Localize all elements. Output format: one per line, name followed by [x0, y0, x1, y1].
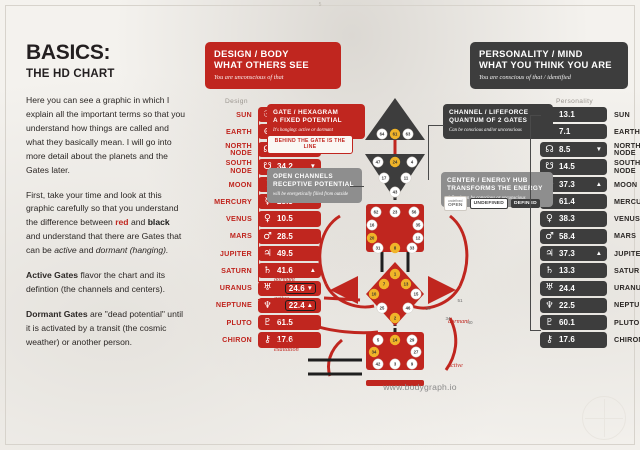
svg-text:40: 40: [467, 320, 473, 325]
annotation-exaltation: line is in exaltation: [274, 338, 299, 354]
page-number: 5: [319, 2, 322, 8]
planet-row[interactable]: ♄13.3SATURN: [540, 263, 640, 278]
svg-text:12: 12: [416, 236, 421, 241]
planet-pill[interactable]: ⚷17.6: [540, 332, 607, 347]
planet-value: 37.3: [559, 180, 575, 189]
saturn-icon: ♄: [262, 266, 273, 276]
website-url: www.bodygraph.io: [360, 382, 480, 392]
pluto-icon: ♇: [262, 318, 273, 328]
p2-part-b: and: [129, 217, 148, 227]
mars-icon: ♂: [262, 232, 273, 242]
planet-label-mercury: MERCURY: [208, 198, 258, 206]
planet-label-neptune: NEPTUNE: [208, 301, 258, 309]
p2-red-word: red: [115, 217, 128, 227]
svg-text:35: 35: [416, 223, 421, 228]
personality-banner-sub: You are conscious of that / identified: [479, 74, 619, 82]
planet-value: 7.1: [559, 127, 570, 136]
intro-column: BASICS: THE HD CHART Here you can see a …: [26, 42, 186, 361]
detriment-arrow-icon: ▼: [596, 146, 602, 153]
planet-row[interactable]: ⚷17.6CHIRON: [540, 332, 640, 347]
planet-pill[interactable]: ☊8.5▼: [540, 142, 607, 157]
planet-value: 41.6: [277, 266, 293, 275]
jupiter-icon: ♃: [544, 249, 555, 259]
planet-label-jupiter: JUPITER: [208, 250, 258, 258]
planet-pill[interactable]: ♇60.1: [540, 315, 607, 330]
p2-part-e: (hanging).: [127, 245, 168, 255]
planet-value: 13.1: [559, 110, 575, 119]
connector-gate-vert: [258, 112, 259, 282]
planet-pill[interactable]: ♄13.3: [540, 263, 607, 278]
svg-text:24: 24: [393, 160, 398, 165]
planet-label-venus: VENUS: [208, 215, 258, 223]
connector-saturn: [258, 299, 270, 300]
gates-head: 64 61 63: [377, 129, 413, 139]
planet-label-sun: SUN: [208, 111, 258, 119]
design-banner-line2: WHAT OTHERS SEE: [214, 59, 332, 70]
planet-pill[interactable]: ♃37.3▲: [540, 246, 607, 261]
planet-label-sun: SUN: [607, 111, 640, 119]
p2-black-word: black: [148, 217, 170, 227]
connector-personality-bottom: [530, 330, 541, 331]
planet-value: 58.4: [559, 232, 575, 241]
planet-label-chiron: CHIRON: [607, 336, 640, 344]
planet-value: 24.4: [559, 284, 575, 293]
planet-pill[interactable]: ♆22.5: [540, 298, 607, 313]
svg-text:33: 33: [410, 246, 415, 251]
p2-part-d: and: [77, 245, 96, 255]
dormant-gates-term: Dormant Gates: [26, 309, 88, 319]
planet-value: 22.5: [559, 301, 575, 310]
planet-value: 61.4: [559, 197, 575, 206]
neptune-icon: ♆: [544, 301, 555, 311]
planet-value: 17.6: [559, 335, 575, 344]
planet-row[interactable]: ⊕7.1EARTH: [540, 124, 640, 139]
planet-label-mars: MARS: [607, 232, 640, 240]
planet-row[interactable]: ☋14.5SOUTH NODE: [540, 159, 640, 175]
page-title: BASICS:: [26, 42, 186, 63]
planet-value: 14.5: [559, 162, 575, 171]
svg-text:47: 47: [376, 160, 381, 165]
exaltation-arrow-icon: ▲: [596, 181, 602, 188]
south-node-icon: ☋: [544, 162, 555, 172]
planet-value: 60.1: [559, 318, 575, 327]
connector-jupiter: [258, 281, 270, 282]
planet-row[interactable]: ☽37.3▲MOON: [540, 177, 640, 192]
uranus-icon: ♅: [262, 283, 273, 293]
p2-dormant-word: dormant: [96, 245, 128, 255]
p2-active-word: active: [54, 245, 76, 255]
toggle-defined[interactable]: DEFINED: [511, 199, 540, 208]
planet-label-pluto: PLUTO: [208, 319, 258, 327]
annotation-detriment: line is in detriment: [274, 316, 298, 332]
svg-text:25: 25: [380, 306, 385, 311]
planet-label-saturn: SATURN: [208, 267, 258, 275]
planet-label-uranus: URANUS: [208, 284, 258, 292]
planet-pill[interactable]: ♂58.4: [540, 229, 607, 244]
planet-label-mercury: MERCURY: [607, 198, 640, 206]
svg-text:63: 63: [406, 132, 411, 137]
planet-row[interactable]: ☉13.1SUN: [540, 107, 640, 122]
svg-text:42: 42: [376, 362, 381, 367]
planet-label-south-node: SOUTH NODE: [208, 159, 258, 175]
planet-value: 49.5: [277, 249, 293, 258]
svg-text:61: 61: [393, 132, 398, 137]
planet-label-north-node: NORTH NODE: [607, 142, 640, 158]
planet-label-uranus: URANUS: [607, 284, 640, 292]
svg-text:31: 31: [376, 246, 381, 251]
planet-pill[interactable]: ♀38.3: [540, 211, 607, 226]
personality-banner-line1: PERSONALITY / MIND: [479, 48, 619, 59]
svg-text:34: 34: [445, 316, 451, 321]
svg-text:23: 23: [393, 210, 398, 215]
venus-icon: ♀: [262, 214, 273, 224]
planet-value: 10.5: [277, 214, 293, 223]
planet-value: 8.5: [559, 145, 570, 154]
planet-label-moon: MOON: [208, 181, 258, 189]
planet-label-north-node: NORTH NODE: [208, 142, 258, 158]
center-heart[interactable]: [428, 276, 456, 304]
svg-text:13: 13: [404, 282, 409, 287]
svg-text:27: 27: [414, 350, 419, 355]
svg-text:43: 43: [393, 190, 398, 195]
venus-icon: ♀: [544, 214, 555, 224]
mars-icon: ♂: [544, 232, 555, 242]
exaltation-arrow-icon: ▲: [596, 250, 602, 257]
planet-label-chiron: CHIRON: [208, 336, 258, 344]
bodygraph-diagram[interactable]: 64 61 63 47 24 4 17 11 43: [300, 88, 490, 388]
annotation-active: active: [274, 295, 289, 303]
planet-value: 37.3: [559, 249, 575, 258]
neptune-icon: ♆: [262, 301, 273, 311]
svg-text:34: 34: [372, 350, 377, 355]
planet-value: 28.5: [277, 232, 293, 241]
design-column-title: Design: [225, 98, 248, 105]
planet-row[interactable]: ♇60.1PLUTO: [540, 315, 640, 330]
svg-text:62: 62: [374, 210, 379, 215]
bodygraph-svg: 64 61 63 47 24 4 17 11 43: [300, 88, 490, 388]
planet-label-south-node: SOUTH NODE: [607, 159, 640, 175]
connector-personality-vert: [530, 115, 531, 330]
planet-row[interactable]: ♆22.5NEPTUNE: [540, 298, 640, 313]
planet-label-venus: VENUS: [607, 215, 640, 223]
page-root: 5 BASICS: THE HD CHART Here you can see …: [0, 0, 640, 450]
planet-label-pluto: PLUTO: [607, 319, 640, 327]
svg-text:46: 46: [406, 306, 411, 311]
svg-text:64: 64: [380, 132, 385, 137]
planet-label-saturn: SATURN: [607, 267, 640, 275]
planet-pill[interactable]: ♅24.4: [540, 281, 607, 296]
intro-paragraph-2: First, take your time and look at this g…: [26, 189, 186, 259]
svg-text:20: 20: [370, 236, 375, 241]
personality-planet-table: ☉13.1SUN⊕7.1EARTH☊8.5▼NORTH NODE☋14.5SOU…: [540, 107, 640, 348]
design-banner-sub: You are unconscious of that: [214, 74, 332, 82]
planet-row[interactable]: ♂58.4MARS: [540, 229, 640, 244]
chiron-icon: ⚷: [544, 335, 555, 345]
svg-text:29: 29: [410, 338, 415, 343]
planet-label-mars: MARS: [208, 232, 258, 240]
planet-value: 13.3: [559, 266, 575, 275]
watermark-logo: [582, 396, 626, 440]
page-subtitle: THE HD CHART: [26, 68, 186, 80]
active-gates-term: Active Gates: [26, 270, 78, 280]
planet-row[interactable]: ☊8.5▼NORTH NODE: [540, 142, 640, 158]
planet-row[interactable]: ♅24.4URANUS: [540, 281, 640, 296]
uranus-icon: ♅: [544, 283, 555, 293]
planet-label-neptune: NEPTUNE: [607, 301, 640, 309]
svg-text:11: 11: [404, 176, 409, 181]
planet-label-earth: EARTH: [607, 128, 640, 136]
svg-text:16: 16: [370, 223, 375, 228]
planet-label-earth: EARTH: [208, 128, 258, 136]
intro-paragraph-1: Here you can see a graphic in which I ex…: [26, 94, 186, 178]
planet-row[interactable]: ☿61.4MERCURY: [540, 194, 640, 209]
connector-gate: [258, 112, 268, 113]
jupiter-icon: ♃: [262, 249, 273, 259]
planet-row[interactable]: ♃37.3▲JUPITER: [540, 246, 640, 261]
planet-label-moon: MOON: [607, 181, 640, 189]
design-banner: DESIGN / BODY WHAT OTHERS SEE You are un…: [205, 42, 341, 89]
svg-text:15: 15: [414, 292, 419, 297]
intro-paragraph-3: Active Gates flavor the chart and its de…: [26, 269, 186, 297]
personality-column-title: Personality: [556, 98, 593, 105]
svg-text:51: 51: [457, 298, 463, 303]
svg-text:14: 14: [393, 338, 398, 343]
svg-text:26: 26: [425, 306, 431, 311]
svg-text:56: 56: [412, 210, 417, 215]
svg-text:10: 10: [372, 292, 377, 297]
design-banner-line1: DESIGN / BODY: [214, 48, 332, 59]
personality-banner-line2: WHAT YOU THINK YOU ARE: [479, 59, 619, 70]
annotation-dormant: dormant: [274, 276, 295, 284]
personality-banner: PERSONALITY / MIND WHAT YOU THINK YOU AR…: [470, 42, 628, 89]
planet-label-jupiter: JUPITER: [607, 250, 640, 258]
connector-personality-top: [530, 115, 541, 116]
planet-row[interactable]: ♀38.3VENUS: [540, 211, 640, 226]
bodygraph-loose-numbers: 34 40 51 26: [425, 298, 473, 325]
saturn-icon: ♄: [544, 266, 555, 276]
chiron-icon: ⚷: [262, 335, 273, 345]
svg-text:17: 17: [382, 176, 387, 181]
pluto-icon: ♇: [544, 318, 555, 328]
planet-value: 38.3: [559, 214, 575, 223]
north-node-icon: ☊: [544, 145, 555, 155]
intro-paragraph-4: Dormant Gates are "dead potential" until…: [26, 308, 186, 350]
